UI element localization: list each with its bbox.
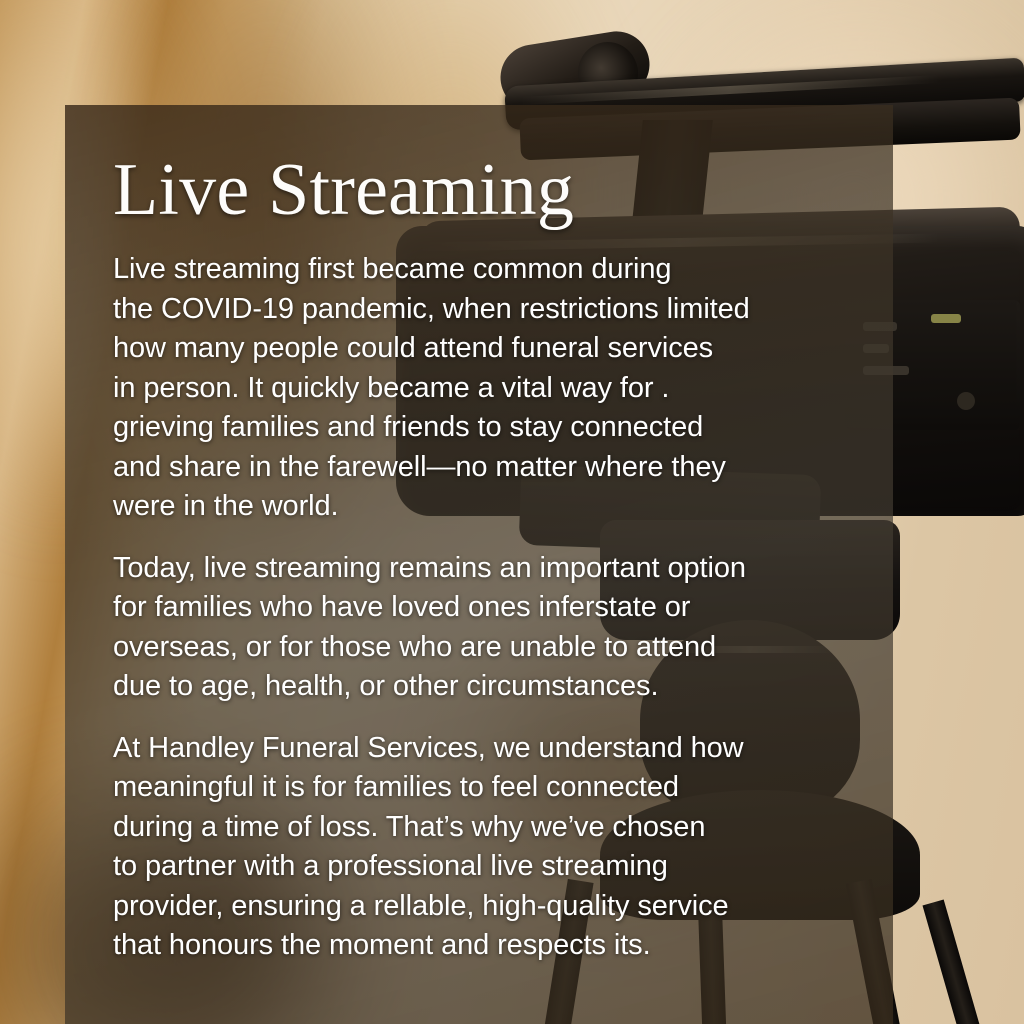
text-line: due to age, health, or other circumstanc… <box>113 667 873 707</box>
text-line: Live streaming first became common durin… <box>113 250 873 290</box>
text-line: grieving families and friends to stay co… <box>113 408 873 448</box>
camera-dial-icon <box>957 392 975 410</box>
text-line: that honours the moment and respects its… <box>113 926 873 966</box>
text-line: overseas, or for those who are unable to… <box>113 628 873 668</box>
text-line: were in the world. <box>113 487 873 527</box>
text-line: during a time of loss. That’s why we’ve … <box>113 808 873 848</box>
page-title: Live Streaming <box>113 152 893 228</box>
text-line: to partner with a professional live stre… <box>113 847 873 887</box>
text-line: in person. It quickly became a vital way… <box>113 369 873 409</box>
text-line: how many people could attend funeral ser… <box>113 329 873 369</box>
text-line: and share in the farewell—no matter wher… <box>113 448 873 488</box>
text-line: At Handley Funeral Services, we understa… <box>113 729 873 769</box>
text-line: meaningful it is for families to feel co… <box>113 768 873 808</box>
paragraph-3: At Handley Funeral Services, we understa… <box>113 729 873 966</box>
paragraph-2: Today, live streaming remains an importa… <box>113 549 873 707</box>
article-content: Live Streaming Live streaming first beca… <box>113 152 893 966</box>
text-line: provider, ensuring a rellable, high-qual… <box>113 887 873 927</box>
text-line: the COVID-19 pandemic, when restrictions… <box>113 290 873 330</box>
paragraph-1: Live streaming first became common durin… <box>113 250 873 527</box>
text-line: for families who have loved ones inferst… <box>113 588 873 628</box>
text-line: Today, live streaming remains an importa… <box>113 549 873 589</box>
camera-indicator-icon <box>931 314 961 323</box>
slide-canvas: Live Streaming Live streaming first beca… <box>0 0 1024 1024</box>
tripod-leg-icon <box>923 899 980 1024</box>
